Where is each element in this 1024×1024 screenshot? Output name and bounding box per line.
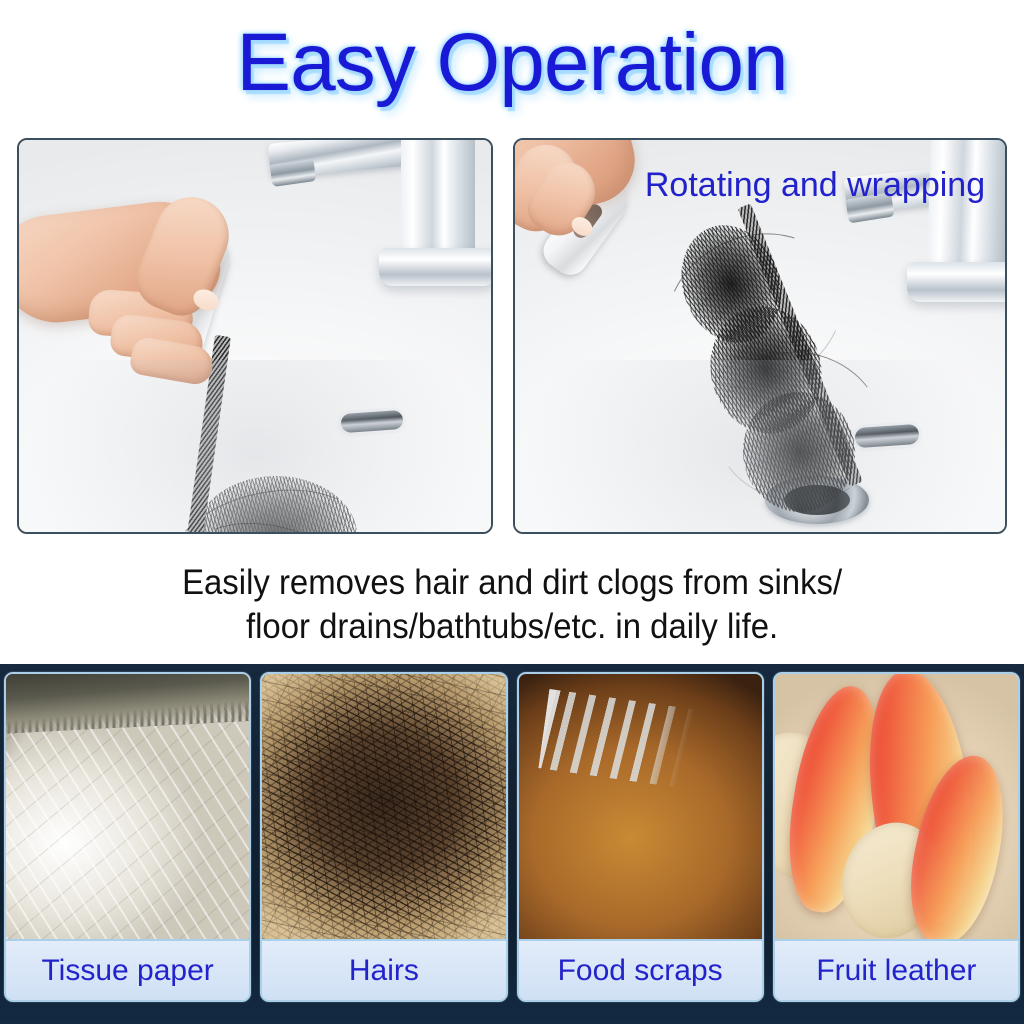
description-line-2: floor drains/bathtubs/etc. in daily life… [246, 605, 778, 649]
debris-tile-label: Fruit leather [775, 939, 1018, 1000]
hair-wisp [701, 338, 894, 515]
step-photo-inserting [17, 138, 493, 534]
debris-tile-label: Hairs [262, 939, 505, 1000]
step-caption: Rotating and wrapping [515, 166, 1005, 205]
debris-tile-food-scraps[interactable]: Food scraps [517, 672, 764, 1002]
step-photo-pulling-out: Rotating and wrapping [513, 138, 1007, 534]
debris-strip: Tissue paper Hairs Food scraps Frui [0, 664, 1024, 1024]
drain-icon [765, 476, 869, 524]
description-line-1: Easily removes hair and dirt clogs from … [182, 561, 842, 605]
operation-steps: Rotating and wrapping [0, 138, 1024, 536]
debris-tile-list: Tissue paper Hairs Food scraps Frui [0, 664, 1024, 1024]
hairs-photo [262, 674, 505, 939]
tissue-paper-photo [6, 674, 249, 939]
overflow-slot-icon [854, 424, 919, 448]
hair-wisp [642, 206, 867, 416]
debris-tile-hairs[interactable]: Hairs [260, 672, 507, 1002]
title-banner: Easy Operation [0, 0, 1024, 126]
sink-scene-left [19, 140, 491, 532]
hair-strands-upper [195, 476, 357, 534]
overflow-slot-icon [340, 410, 403, 433]
product-description: Easily removes hair and dirt clogs from … [0, 550, 1024, 660]
hair-wisp [178, 507, 368, 534]
fruit-leather-photo [775, 674, 1018, 939]
debris-tile-tissue-paper[interactable]: Tissue paper [4, 672, 251, 1002]
debris-tile-fruit-leather[interactable]: Fruit leather [773, 672, 1020, 1002]
food-scraps-photo [519, 674, 762, 939]
hair-wisp [159, 472, 379, 534]
debris-tile-label: Tissue paper [6, 939, 249, 1000]
page-title: Easy Operation [236, 22, 787, 104]
debris-tile-label: Food scraps [519, 939, 762, 1000]
drain-snake-shaft [180, 335, 231, 534]
hair-wrapped-coil [737, 386, 861, 517]
